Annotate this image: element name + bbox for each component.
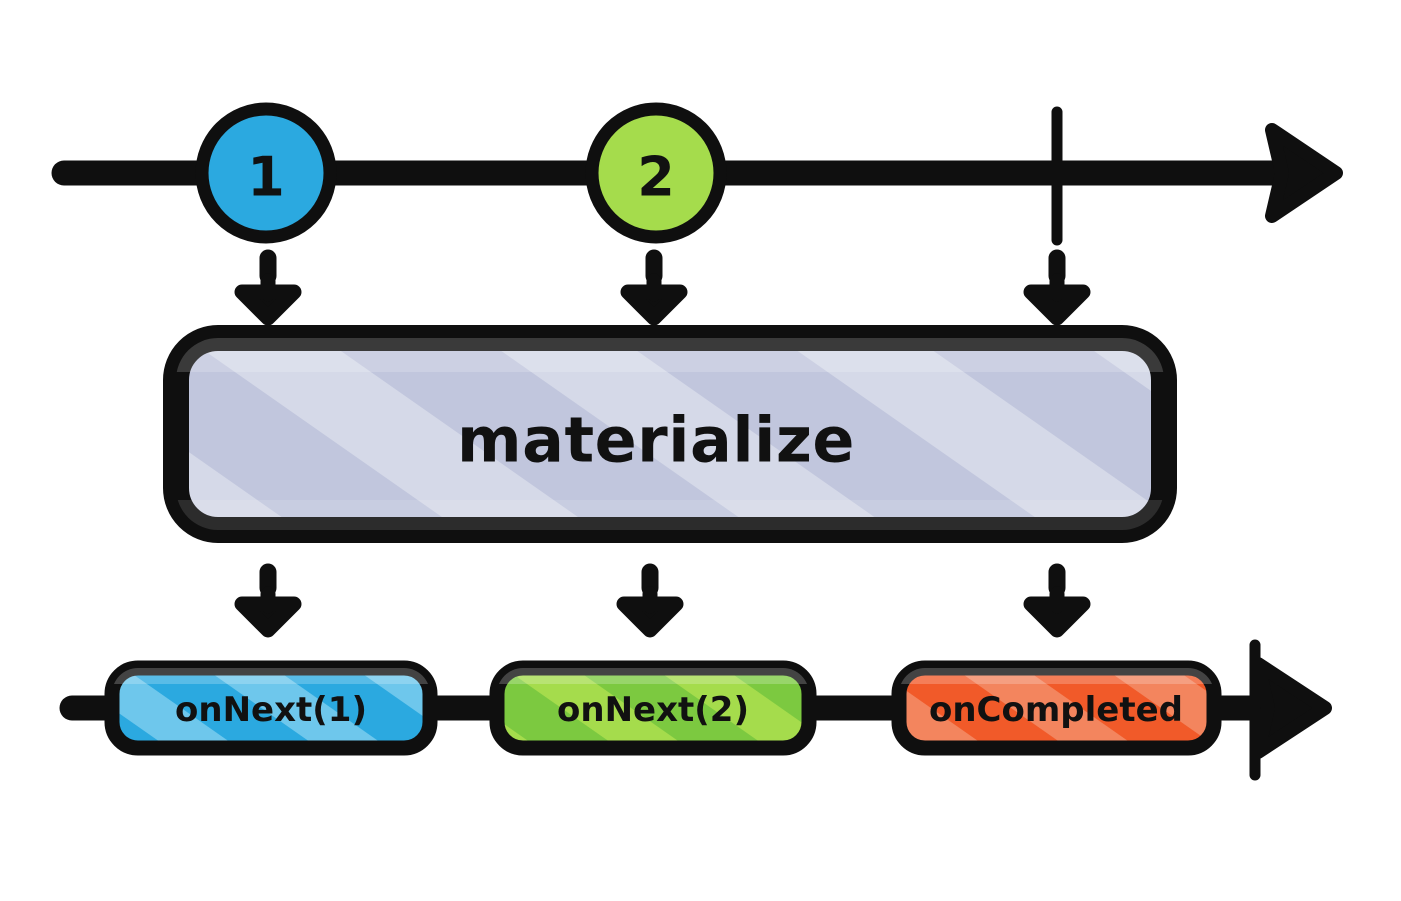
connector-arrow-marble-2 [628, 258, 680, 318]
source-timeline-arrowhead [1272, 130, 1336, 216]
notification-gloss [497, 668, 809, 684]
result-timeline: onNext(1) onNext(2) onCompleted [72, 645, 1325, 775]
result-notification-oncompleted[interactable]: onCompleted [899, 668, 1214, 748]
connector-arrowhead [624, 594, 676, 630]
connector-arrowhead [242, 594, 294, 630]
source-marble-1[interactable]: 1 [202, 109, 330, 237]
operator-box[interactable]: materialize [176, 338, 1164, 530]
connector-arrowhead [628, 281, 680, 318]
connector-arrowhead [242, 281, 294, 318]
connector-arrow-marble-1 [242, 258, 294, 318]
connector-arrow-onnext-2 [624, 572, 676, 630]
source-marble-2[interactable]: 2 [592, 109, 720, 237]
operator-box-label: materialize [457, 404, 855, 477]
result-timeline-arrowhead [1258, 664, 1325, 752]
marble-value-label: 2 [637, 146, 675, 209]
connectors-into-operator [242, 258, 1083, 318]
source-timeline: 1 2 [64, 109, 1336, 240]
connector-arrow-completion [1031, 258, 1083, 318]
result-notification-onnext-2[interactable]: onNext(2) [497, 668, 809, 748]
connector-arrow-onnext-1 [242, 572, 294, 630]
marble-value-label: 1 [247, 146, 285, 209]
connector-arrow-oncompleted [1031, 572, 1083, 630]
connectors-out-of-operator [242, 572, 1083, 630]
notification-label: onCompleted [929, 690, 1183, 730]
notification-gloss [899, 668, 1214, 684]
connector-arrowhead [1031, 281, 1083, 318]
notification-label: onNext(2) [557, 690, 749, 730]
connector-arrowhead [1031, 594, 1083, 630]
marble-diagram-svg: 1 2 [0, 0, 1401, 901]
result-notification-onnext-1[interactable]: onNext(1) [112, 668, 430, 748]
notification-gloss [112, 668, 430, 684]
marble-diagram-canvas: 1 2 [0, 0, 1401, 901]
notification-label: onNext(1) [175, 690, 367, 730]
